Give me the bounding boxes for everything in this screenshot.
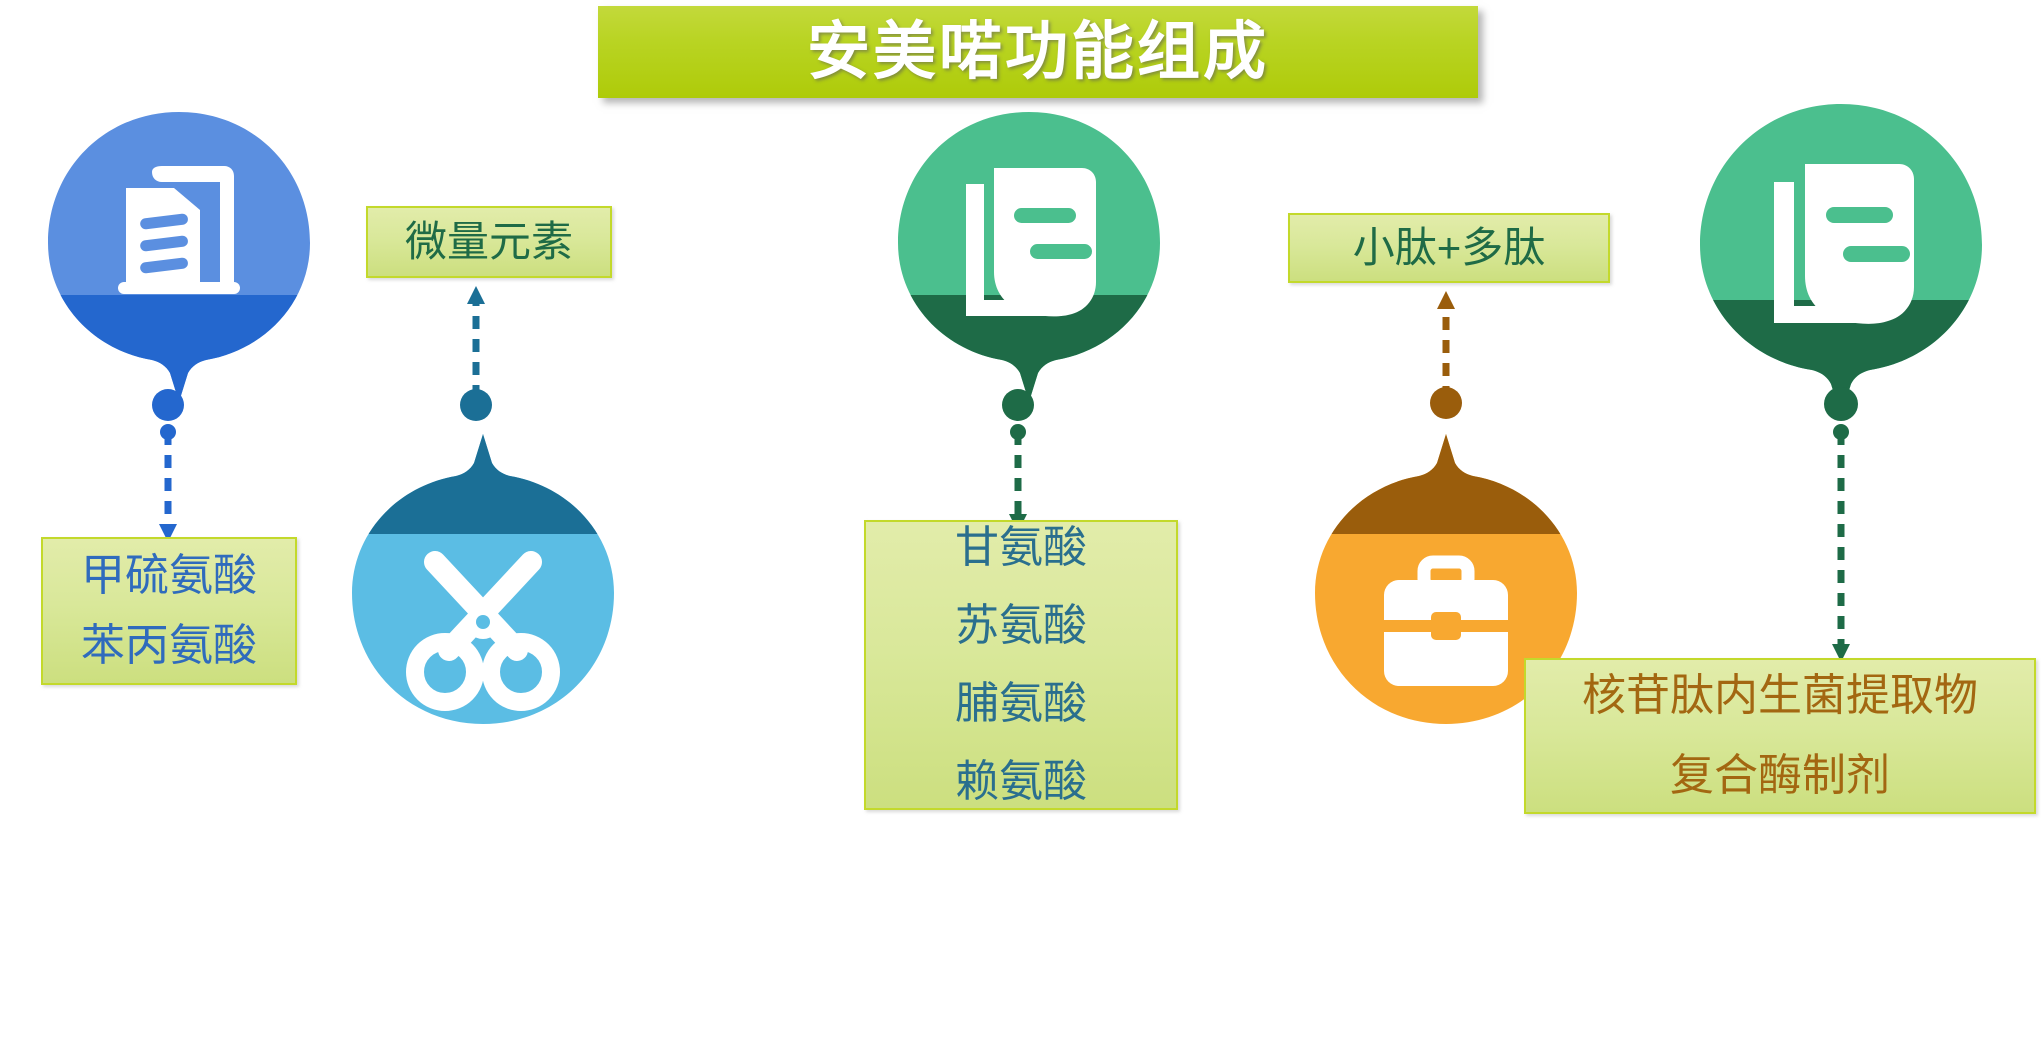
text-box-line: 脯氨酸 — [955, 681, 1087, 727]
text-box-line: 苯丙氨酸 — [81, 623, 257, 669]
connector-arrow-col-2 — [458, 280, 494, 406]
page-title: 安美喏功能组成 — [807, 21, 1269, 84]
text-box-line: 苏氨酸 — [955, 603, 1087, 649]
text-box-col-2: 微量元素 — [366, 206, 612, 278]
text-box-col-5: 核苷肽内生菌提取物 复合酶制剂 — [1524, 658, 2036, 814]
text-box-line: 核苷肽内生菌提取物 — [1582, 673, 1978, 719]
text-box-line: 微量元素 — [405, 220, 573, 264]
balloon-pin-dot-col-5 — [1824, 387, 1858, 421]
balloon-col-1 — [48, 112, 310, 412]
text-box-col-4: 小肽+多肽 — [1288, 213, 1610, 283]
page-title-banner: 安美喏功能组成 — [598, 6, 1478, 98]
balloon-col-5 — [1700, 104, 1982, 426]
balloon-pin-dot-col-1 — [152, 389, 184, 421]
briefcase-icon — [1384, 562, 1508, 686]
balloon-pin-dot-col-3 — [1002, 389, 1034, 421]
balloon-col-3 — [898, 112, 1160, 412]
text-box-line: 甘氨酸 — [955, 525, 1087, 571]
text-box-col-3: 甘氨酸 苏氨酸 脯氨酸 赖氨酸 — [864, 520, 1178, 810]
text-box-line: 赖氨酸 — [955, 759, 1087, 805]
text-box-line: 小肽+多肽 — [1353, 226, 1546, 270]
balloon-pin-dot-col-4 — [1430, 387, 1462, 419]
connector-arrow-col-3 — [1000, 424, 1036, 534]
connector-arrow-col-1 — [150, 424, 186, 544]
text-box-col-1: 甲硫氨酸 苯丙氨酸 — [41, 537, 297, 685]
text-box-line: 复合酶制剂 — [1670, 753, 1890, 799]
balloon-pin-dot-col-2 — [460, 389, 492, 421]
balloon-col-2 — [352, 424, 614, 724]
connector-arrow-col-5 — [1823, 424, 1859, 664]
text-box-line: 甲硫氨酸 — [81, 553, 257, 599]
